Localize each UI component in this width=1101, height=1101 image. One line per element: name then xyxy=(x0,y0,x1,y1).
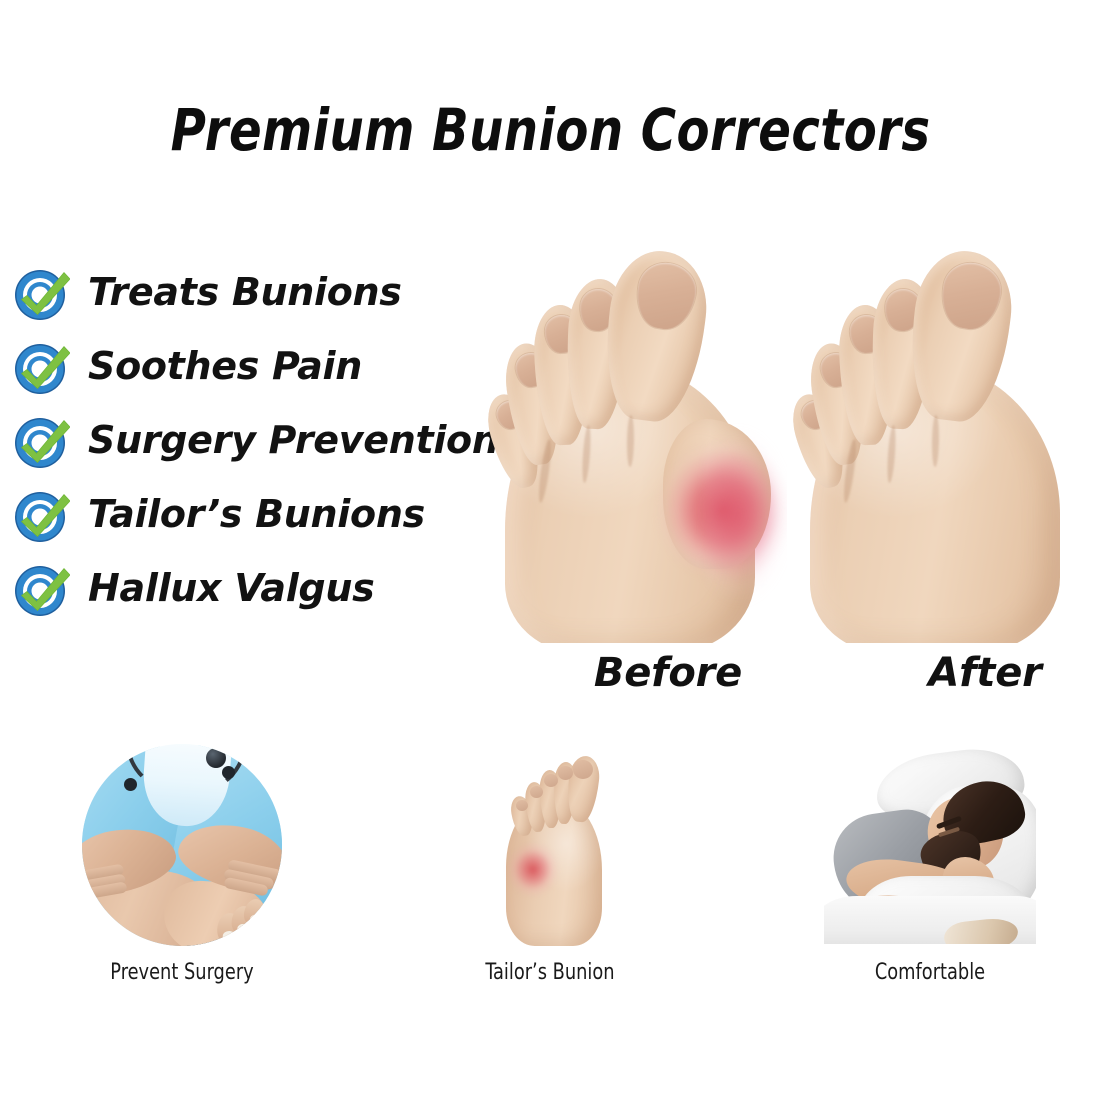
feature-checklist: Treats Bunions Soothes Pain xyxy=(10,262,510,632)
corrected-foot-photo xyxy=(792,243,1092,643)
list-item: Tailor’s Bunions xyxy=(10,484,510,558)
stethoscope-chestpiece xyxy=(206,748,226,768)
patient-toenail xyxy=(237,924,250,935)
benefit-cell: Tailor’s Bunion xyxy=(400,742,700,1002)
check-circle-icon xyxy=(14,266,70,322)
toenail xyxy=(573,760,593,779)
benefit-caption: Comfortable xyxy=(795,960,1065,985)
benefit-cell: Prevent Surgery xyxy=(32,742,332,1002)
list-item: Hallux Valgus xyxy=(10,558,510,632)
list-item-label: Hallux Valgus xyxy=(88,560,374,616)
before-label: Before xyxy=(568,650,768,696)
toenail xyxy=(516,800,528,811)
list-item: Soothes Pain xyxy=(10,336,510,410)
page-title: Premium Bunion Correctors xyxy=(94,96,1008,164)
man-sleeping-photo xyxy=(824,742,1036,947)
bunion-bulge xyxy=(663,419,771,569)
check-circle-icon xyxy=(14,340,70,396)
bunion-inflammation xyxy=(496,832,562,910)
stethoscope-earpiece xyxy=(222,766,235,779)
check-circle-icon xyxy=(14,414,70,470)
toenail xyxy=(530,786,543,798)
patient-toenail xyxy=(250,914,262,924)
stethoscope-earpiece xyxy=(124,778,137,791)
list-item: Treats Bunions xyxy=(10,262,510,336)
benefit-caption: Tailor’s Bunion xyxy=(415,960,685,985)
list-item-label: Surgery Prevention xyxy=(88,412,499,468)
list-item: Surgery Prevention xyxy=(10,410,510,484)
product-infographic: Premium Bunion Correctors Treats Bunions xyxy=(0,0,1101,1101)
benefit-row: Prevent Surgery xyxy=(0,742,1101,1002)
patient-toenail xyxy=(222,931,236,943)
list-item-label: Soothes Pain xyxy=(88,338,362,394)
list-item-label: Treats Bunions xyxy=(88,264,402,320)
before-after-comparison xyxy=(487,243,1092,643)
doctor-examining-foot-photo xyxy=(76,742,288,947)
list-item-label: Tailor’s Bunions xyxy=(88,486,425,542)
toenail xyxy=(558,766,573,780)
benefit-cell: Comfortable xyxy=(780,742,1080,1002)
check-circle-icon xyxy=(14,488,70,544)
toenail xyxy=(544,774,558,787)
after-label: After xyxy=(905,650,1065,696)
tailors-bunion-foot-photo xyxy=(444,742,656,947)
bunion-foot-photo xyxy=(487,243,787,643)
check-circle-icon xyxy=(14,562,70,618)
benefit-caption: Prevent Surgery xyxy=(47,960,317,985)
